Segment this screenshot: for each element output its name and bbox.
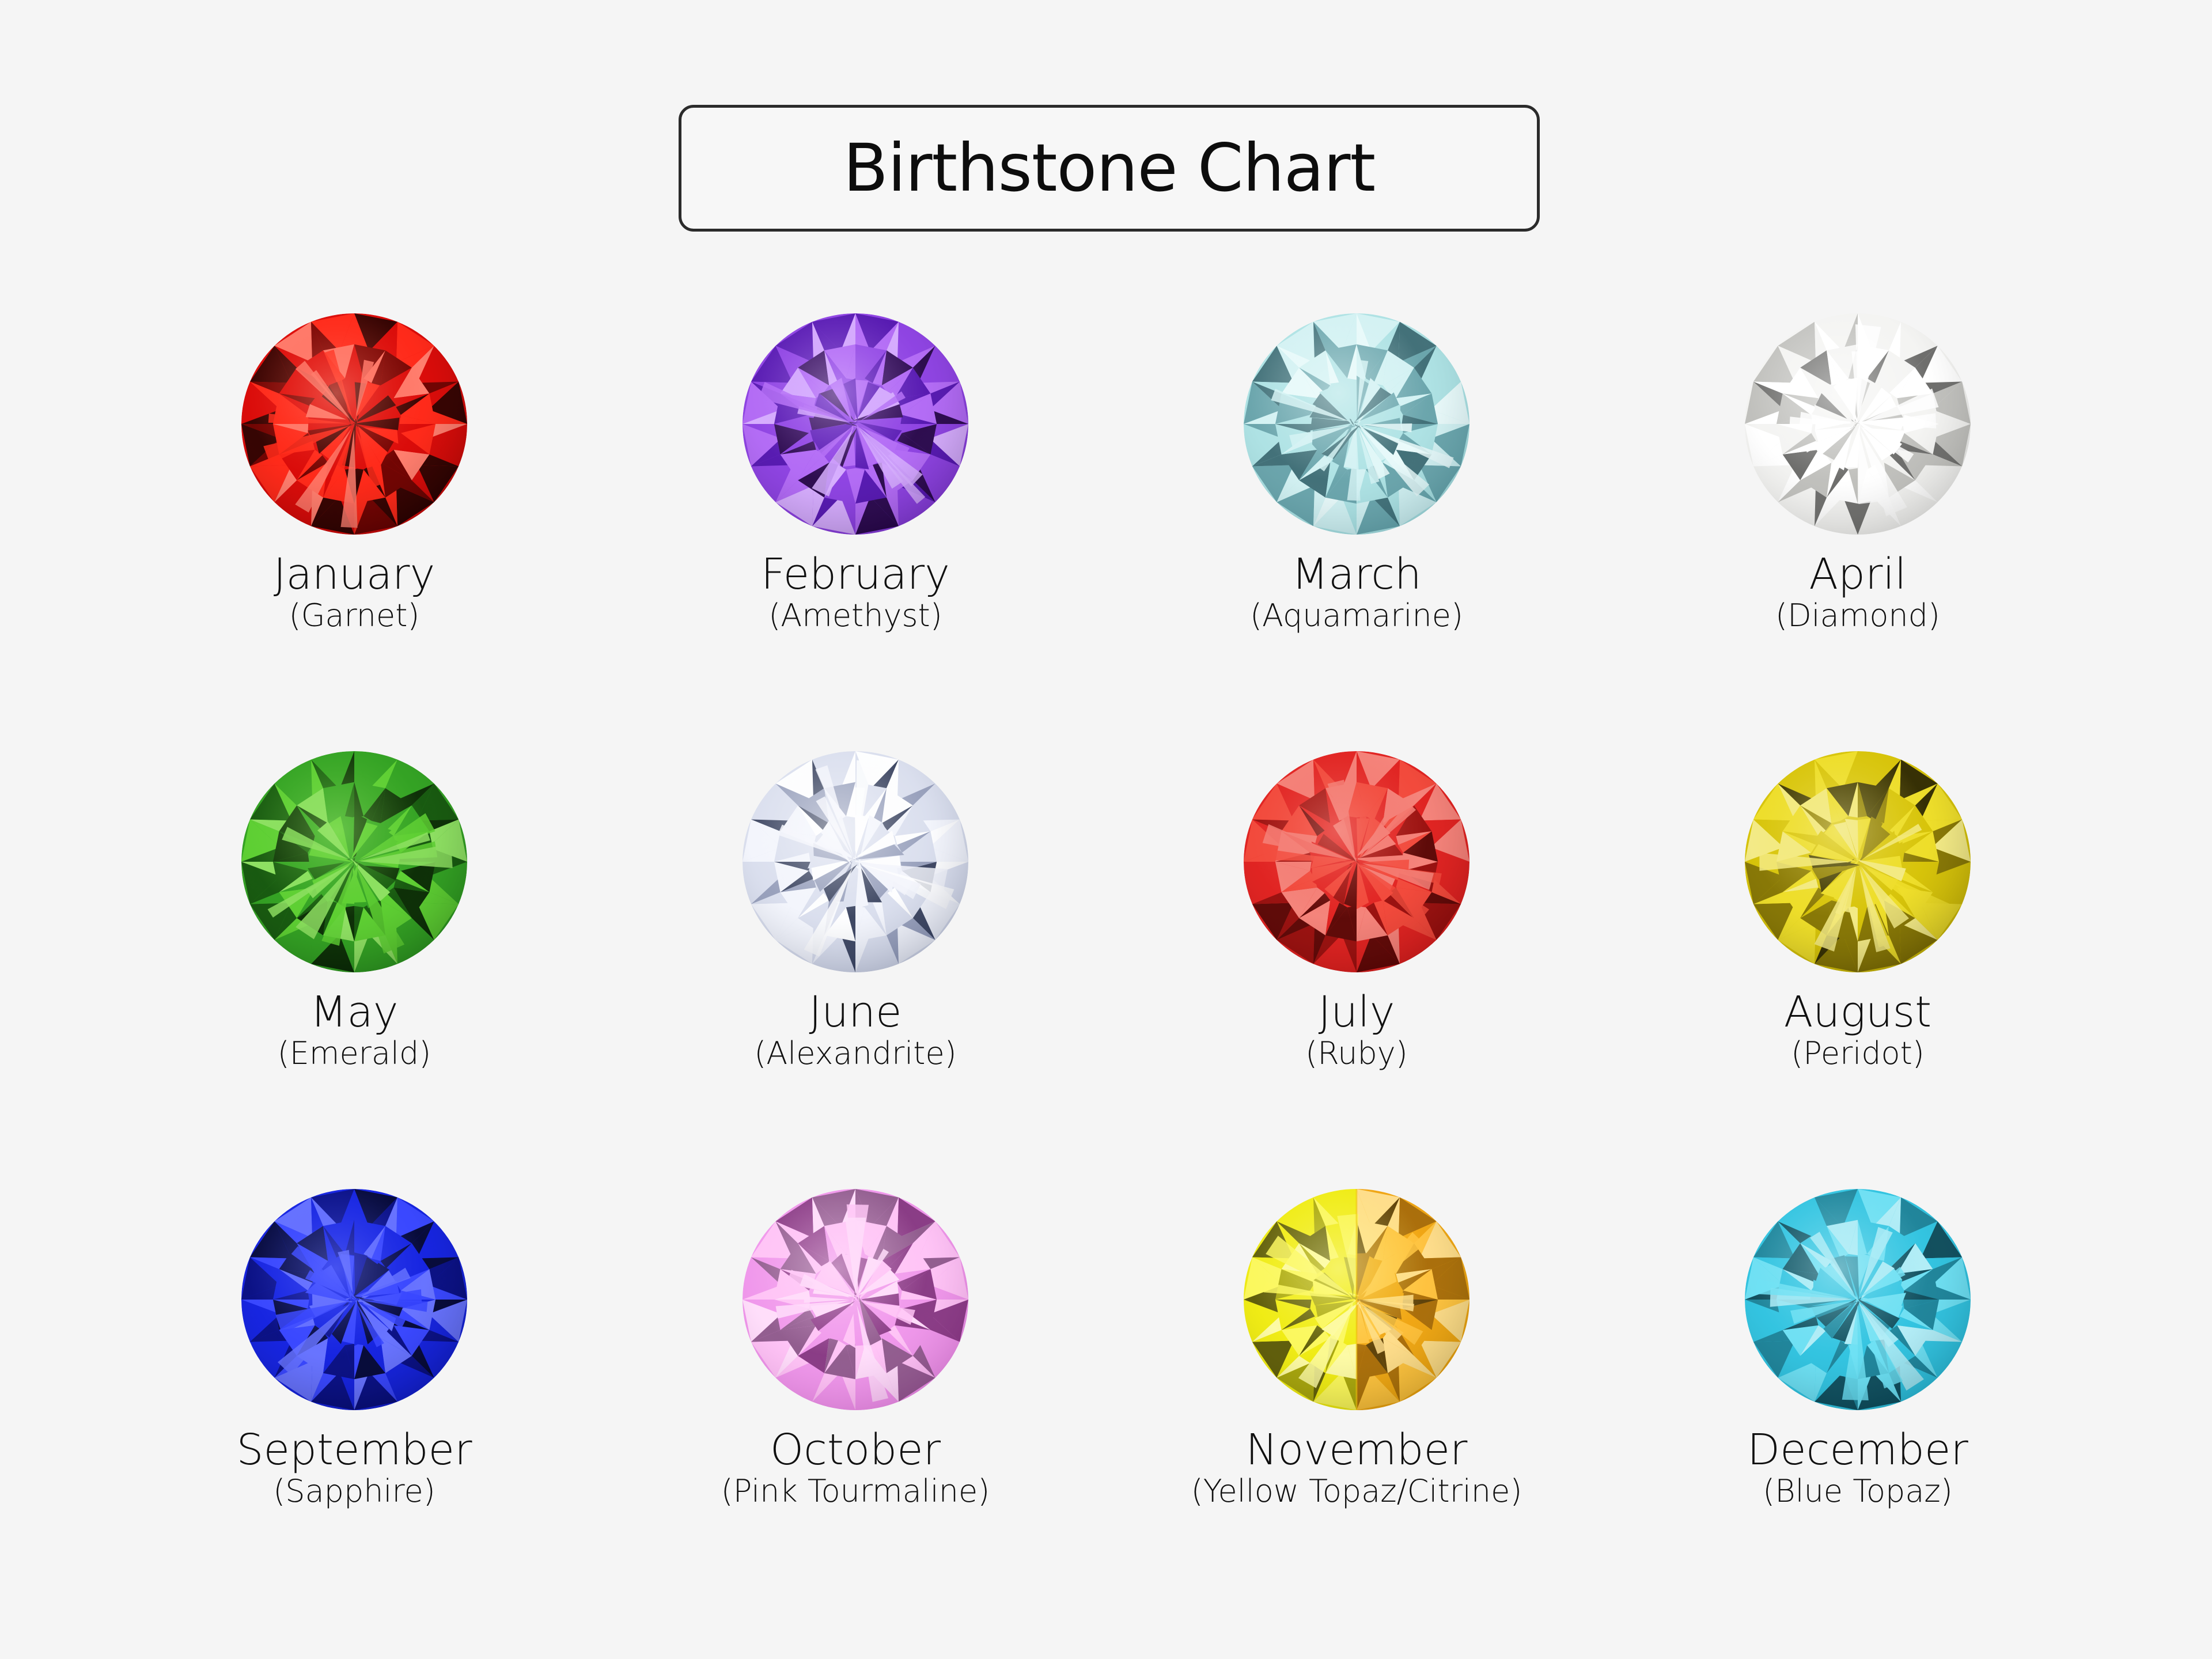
round-brilliant-gem-icon (239, 1187, 469, 1412)
stone-label: (Pink Tourmaline) (721, 1475, 990, 1507)
round-brilliant-gem-icon (239, 311, 469, 537)
month-label: June (809, 991, 902, 1034)
round-brilliant-gem-icon (1743, 749, 1973, 975)
stone-label: (Emerald) (278, 1037, 431, 1069)
month-label: August (1784, 991, 1931, 1034)
round-brilliant-gem-icon (740, 311, 971, 537)
stone-label: (Alexandrite) (754, 1037, 957, 1069)
birthstone-cell-august[interactable]: August(Peridot) (1607, 749, 2108, 1187)
stone-label: (Diamond) (1775, 600, 1940, 631)
birthstone-cell-september[interactable]: September(Sapphire) (104, 1187, 605, 1624)
stone-label: (Aquamarine) (1250, 600, 1463, 631)
birthstone-cell-july[interactable]: July(Ruby) (1106, 749, 1607, 1187)
birthstone-cell-february[interactable]: February(Amethyst) (605, 311, 1106, 749)
stone-label: (Peridot) (1791, 1037, 1925, 1069)
round-brilliant-gem-icon (740, 1187, 971, 1412)
round-brilliant-gem-icon (239, 749, 469, 975)
month-label: January (274, 553, 435, 596)
stone-label: (Garnet) (289, 600, 420, 631)
birthstone-cell-october[interactable]: October(Pink Tourmaline) (605, 1187, 1106, 1624)
birthstone-cell-june[interactable]: June(Alexandrite) (605, 749, 1106, 1187)
month-label: November (1246, 1429, 1468, 1472)
stone-label: (Yellow Topaz/Citrine) (1191, 1475, 1522, 1507)
birthstone-cell-march[interactable]: March(Aquamarine) (1106, 311, 1607, 749)
birthstone-cell-april[interactable]: April(Diamond) (1607, 311, 2108, 749)
split-gem-icon (1241, 1187, 1472, 1412)
month-label: March (1291, 553, 1422, 596)
birthstone-cell-january[interactable]: January(Garnet) (104, 311, 605, 749)
round-brilliant-gem-icon (740, 749, 971, 975)
birthstone-grid: January(Garnet)February(Amethyst)March(A… (104, 311, 2108, 1624)
birthstone-cell-may[interactable]: May(Emerald) (104, 749, 605, 1187)
stone-label: (Ruby) (1305, 1037, 1408, 1069)
month-label: February (761, 553, 950, 596)
month-label: October (770, 1429, 941, 1472)
stone-label: (Sapphire) (273, 1475, 435, 1507)
stone-label: (Amethyst) (768, 600, 942, 631)
round-brilliant-gem-icon (1743, 1187, 1973, 1412)
birthstone-cell-november[interactable]: November(Yellow Topaz/Citrine) (1106, 1187, 1607, 1624)
page-title: Birthstone Chart (843, 135, 1375, 201)
round-brilliant-gem-icon (1241, 749, 1472, 975)
round-brilliant-gem-icon (1743, 311, 1973, 537)
month-label: September (236, 1429, 472, 1472)
month-label: December (1747, 1429, 1968, 1472)
stone-label: (Blue Topaz) (1763, 1475, 1953, 1507)
month-label: May (310, 991, 399, 1034)
round-brilliant-gem-icon (1241, 311, 1472, 537)
month-label: April (1809, 553, 1906, 596)
birthstone-cell-december[interactable]: December(Blue Topaz) (1607, 1187, 2108, 1624)
page-title-box: Birthstone Chart (679, 105, 1540, 232)
month-label: July (1318, 991, 1395, 1034)
